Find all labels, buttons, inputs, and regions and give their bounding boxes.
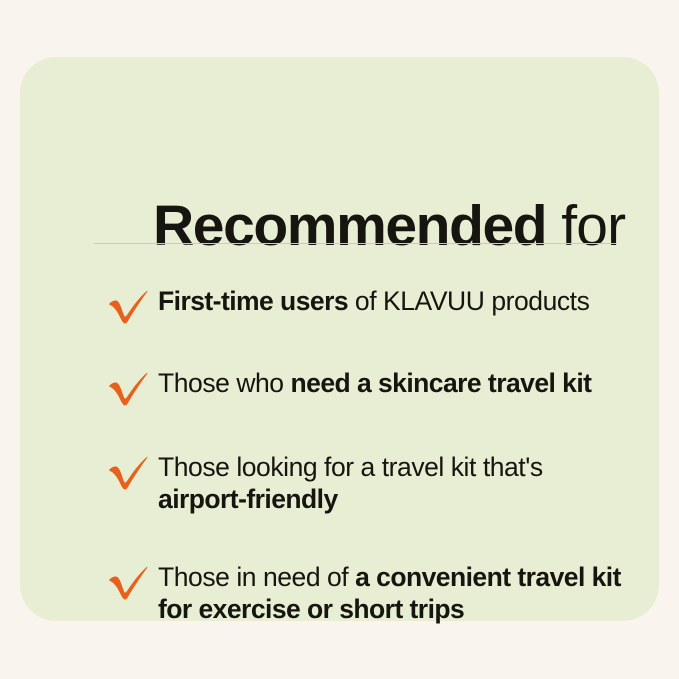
check-icon [106, 563, 150, 603]
list-item-segment-bold: airport-friendly [158, 484, 338, 514]
list-item-segment-bold: First-time users [158, 286, 348, 316]
check-icon [106, 287, 150, 327]
list-item-segment-bold: need a skincare travel kit [291, 368, 592, 398]
list-item-segment-normal: Those in need of [158, 562, 355, 592]
list-item-segment-normal: of KLAVUU products [348, 286, 589, 316]
list-item-segment-normal: Those who [158, 368, 291, 398]
page-title-strong: Recommended [153, 194, 546, 258]
title-divider [94, 243, 616, 244]
list-item-segment-normal: Those looking for a travel kit that's [158, 452, 543, 482]
check-icon [106, 369, 150, 409]
list-item-text: Those who need a skincare travel kit [158, 367, 628, 399]
recommended-for-card: Recommended for First-time users of KLAV… [20, 57, 659, 621]
page-title-light: for [546, 194, 625, 258]
page-title: Recommended for [153, 195, 625, 257]
list-item-text: Those in need of a convenient travel kit… [158, 561, 628, 625]
check-icon [106, 453, 150, 493]
list-item-text: Those looking for a travel kit that's ai… [158, 451, 628, 515]
list-item-text: First-time users of KLAVUU products [158, 285, 628, 317]
page-root: Recommended for First-time users of KLAV… [0, 0, 679, 679]
